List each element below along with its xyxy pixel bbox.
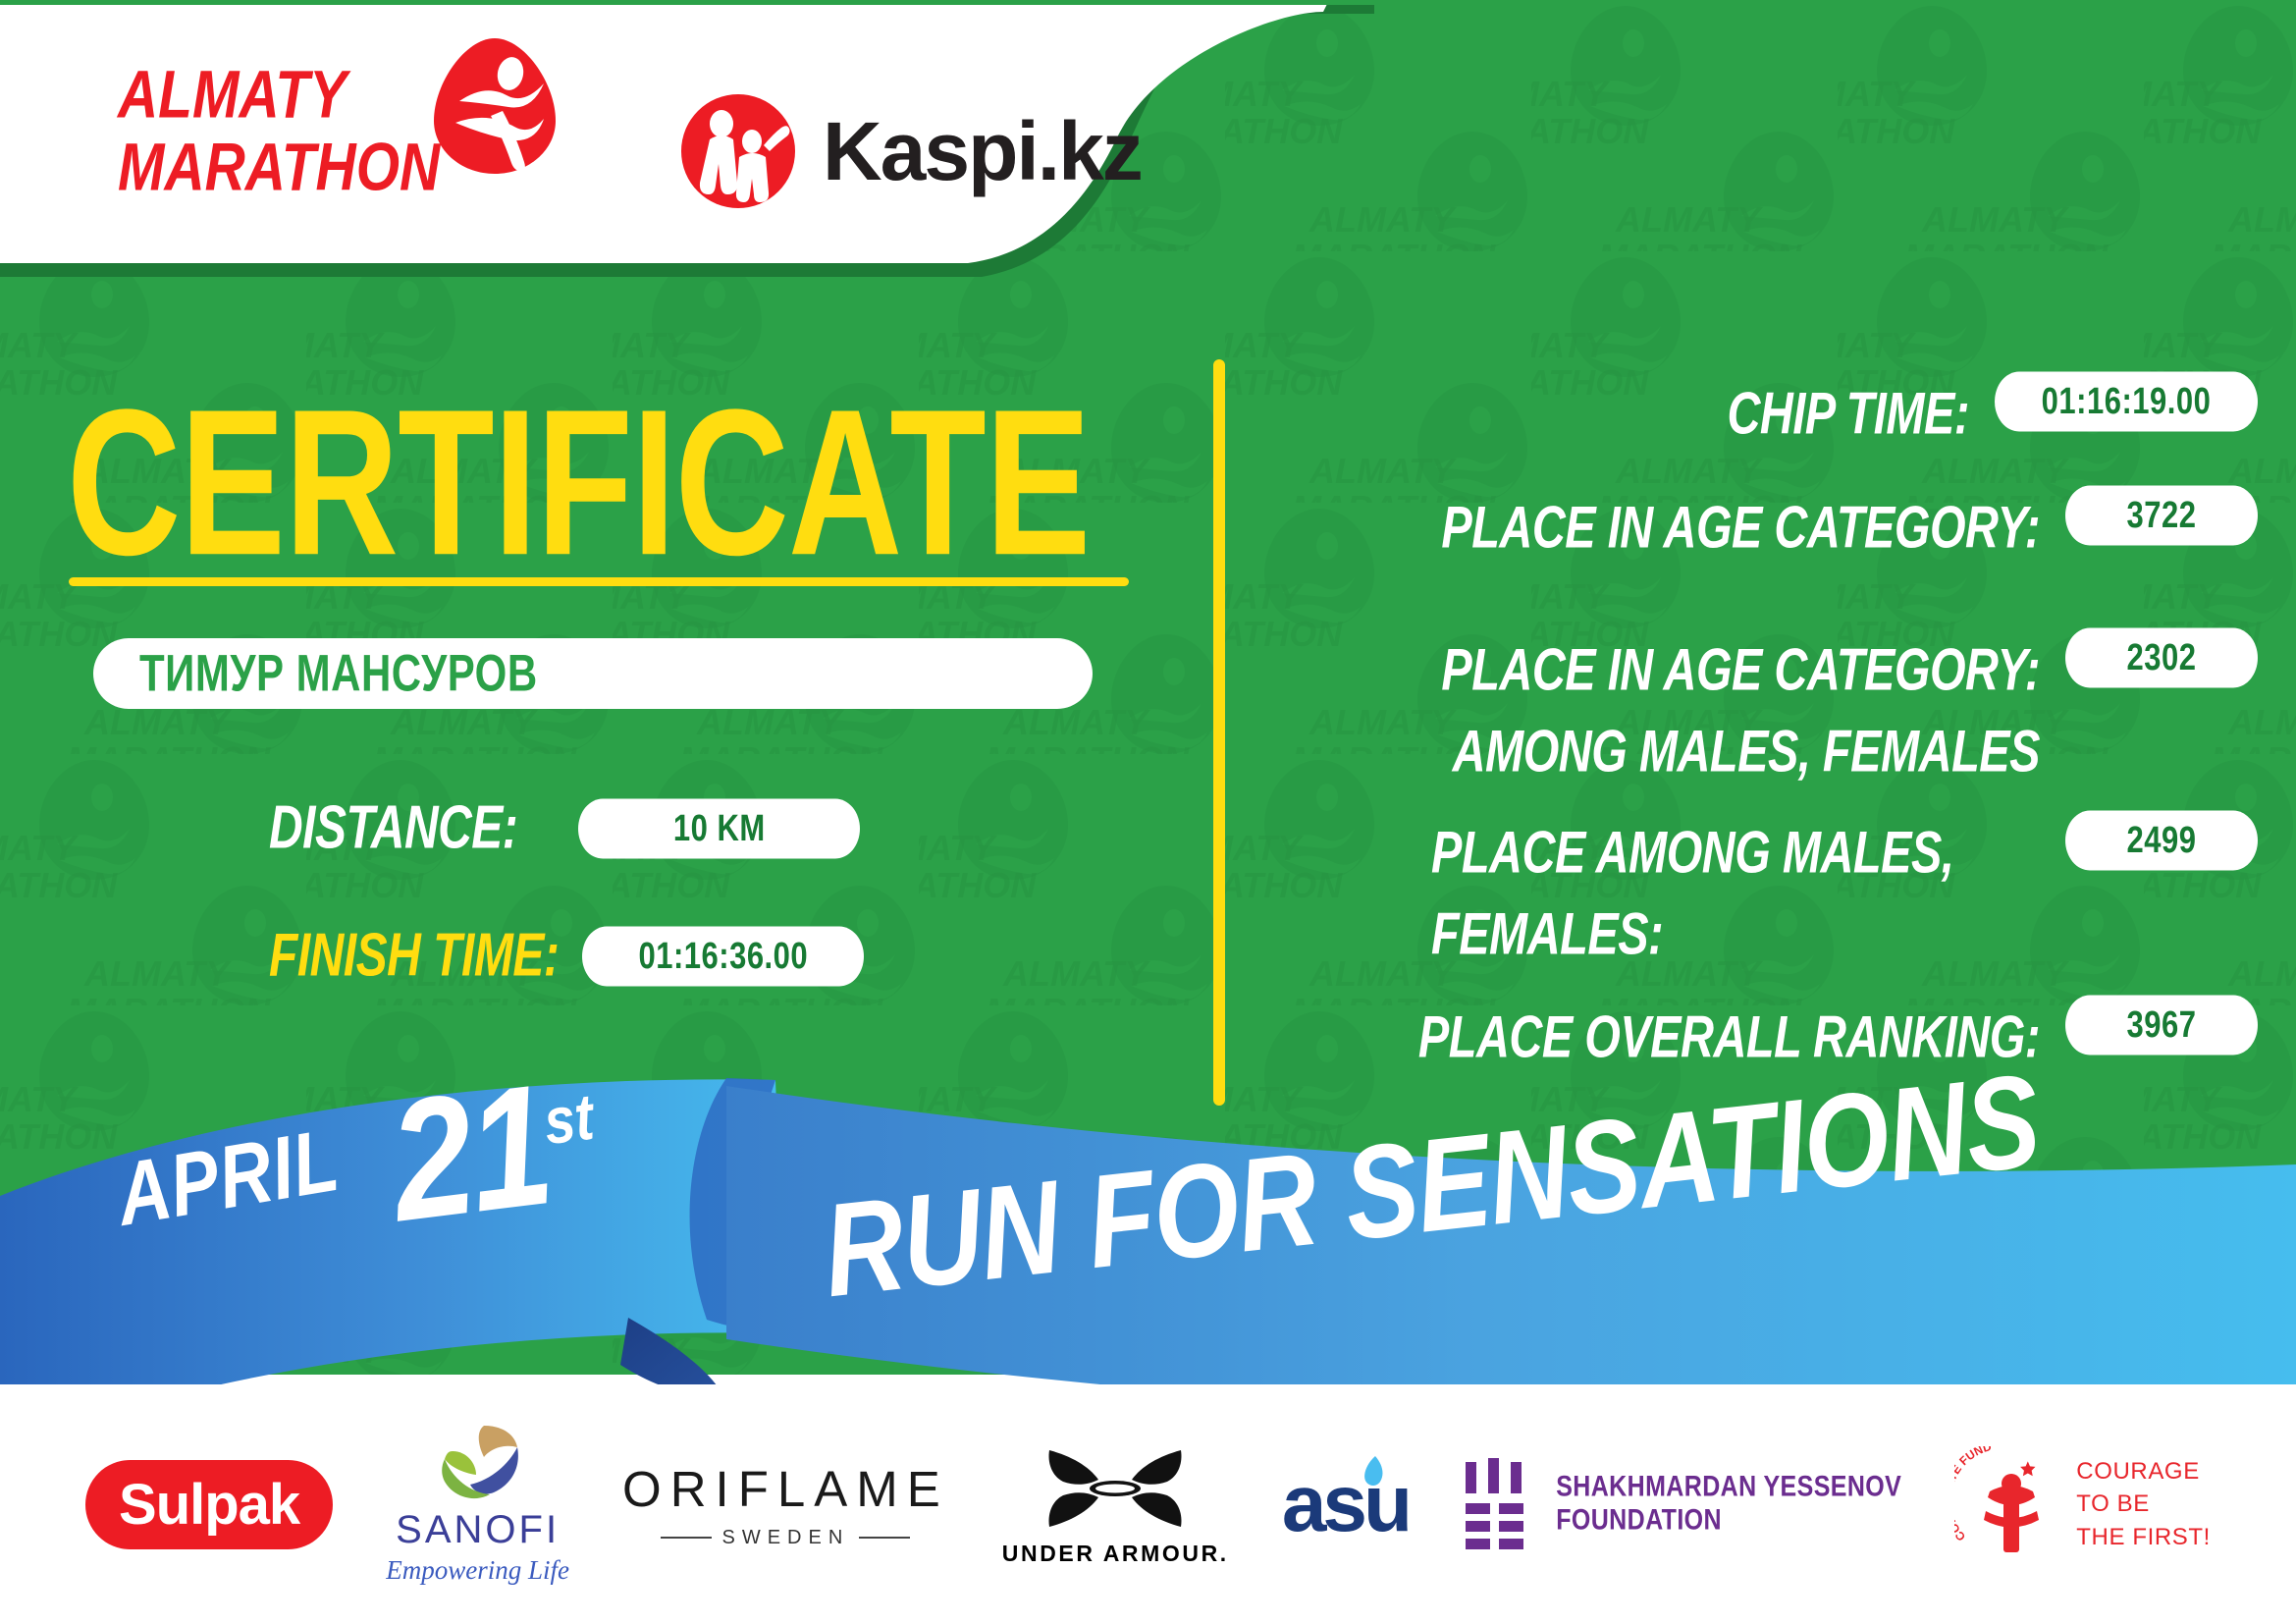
finish-time-value: 01:16:36.00: [638, 935, 808, 978]
place-gender-value: 2499: [2127, 819, 2197, 862]
column-divider: [1213, 359, 1225, 1106]
title-underline-rule: [69, 577, 1129, 586]
yessenov-bars-icon: [1462, 1458, 1534, 1550]
page-title: CERTIFICATE: [67, 379, 1090, 587]
sulpak-wordmark: Sulpak: [85, 1460, 333, 1549]
chip-time-value: 01:16:19.00: [2042, 380, 2212, 423]
place-age-category-gender-value: 2302: [2127, 636, 2197, 679]
courage-line2: TO BE: [2076, 1488, 2211, 1520]
participant-name-field: ТИМУР МАНСУРОВ: [93, 638, 1093, 709]
finish-time-row: FINISH TIME: 01:16:36.00: [269, 929, 864, 983]
place-overall-value-pill: 3967: [2065, 996, 2258, 1056]
place-gender-label: PLACE AMONG MALES, FEMALES:: [1425, 812, 2065, 975]
under-armour-wordmark: UNDER ARMOUR.: [1002, 1541, 1229, 1567]
results-column: CHIP TIME: 01:16:19.00 PLACE IN AGE CATE…: [1276, 373, 2258, 1105]
distance-row: DISTANCE: 10 KM: [269, 801, 860, 855]
oriflame-rule-right: [859, 1537, 910, 1539]
finish-time-label: FINISH TIME:: [269, 921, 559, 992]
chip-time-label: CHIP TIME:: [1276, 373, 1995, 455]
sponsor-courage-fund: CORPORATE FUND COURAGE TO BE THE FIRST!: [1954, 1446, 2211, 1562]
sponsor-bar: Sulpak SANOFI Empowering Life ORIFLAME S…: [0, 1384, 2296, 1624]
distance-value: 10 KM: [673, 807, 766, 850]
oriflame-country: SWEDEN: [721, 1527, 849, 1549]
kaspi-kz-wordmark: Kaspi.kz: [823, 104, 1142, 199]
ribbon-day-number: 21: [381, 1049, 559, 1258]
almaty-marathon-logo-line2: MARATHON: [118, 134, 440, 204]
asu-droplet-icon: [1359, 1454, 1388, 1493]
result-row-place-age-category: PLACE IN AGE CATEGORY: 3722: [1276, 487, 2258, 629]
sanofi-mark-icon: [433, 1424, 523, 1508]
result-row-chip-time: CHIP TIME: 01:16:19.00: [1276, 373, 2258, 487]
place-age-category-value-pill: 3722: [2065, 486, 2258, 546]
participant-name-value: ТИМУР МАНСУРОВ: [139, 644, 538, 703]
courage-fund-figure-icon: CORPORATE FUND: [1954, 1446, 2064, 1562]
place-gender-value-pill: 2499: [2065, 811, 2258, 871]
oriflame-rule-left: [661, 1537, 712, 1539]
courage-fund-wordmark: COURAGE TO BE THE FIRST!: [2076, 1455, 2211, 1552]
place-age-category-gender-label: PLACE IN AGE CATEGORY: AMONG MALES, FEMA…: [1294, 629, 2065, 792]
marathon-runner-droplet-icon: [422, 32, 567, 178]
result-row-place-gender: PLACE AMONG MALES, FEMALES: 2499: [1276, 812, 2258, 997]
sponsor-sanofi: SANOFI Empowering Life: [386, 1424, 569, 1586]
sponsor-oriflame: ORIFLAME SWEDEN: [622, 1460, 949, 1549]
yessenov-line2: FOUNDATION: [1556, 1501, 1901, 1542]
place-age-category-value: 3722: [2127, 494, 2197, 537]
under-armour-logo-icon: [1041, 1442, 1189, 1535]
sponsor-asu: asu: [1282, 1458, 1409, 1550]
kaspi-kz-logo: Kaspi.kz: [677, 90, 1142, 212]
place-age-category-label: PLACE IN AGE CATEGORY:: [1276, 487, 2065, 568]
almaty-marathon-logo-line1: ALMATY: [118, 61, 347, 132]
ribbon-day: 21st: [381, 1041, 608, 1262]
almaty-marathon-logo: ALMATY MARATHON: [118, 61, 567, 192]
sponsor-yessenov-foundation: SHAKHMARDAN YESSENOV FOUNDATION: [1462, 1458, 1901, 1550]
distance-label: DISTANCE:: [269, 793, 517, 864]
sponsor-sulpak: Sulpak: [85, 1460, 333, 1549]
place-age-category-gender-value-pill: 2302: [2065, 628, 2258, 688]
place-overall-value: 3967: [2127, 1003, 2197, 1047]
finish-time-value-pill: 01:16:36.00: [582, 926, 864, 986]
oriflame-wordmark: ORIFLAME: [622, 1460, 949, 1518]
courage-fund-arc-text: CORPORATE FUND: [1954, 1446, 1994, 1543]
courage-line3: THE FIRST!: [2076, 1521, 2211, 1553]
svg-text:CORPORATE FUND: CORPORATE FUND: [1954, 1446, 1994, 1543]
ribbon-day-ordinal: st: [540, 1079, 597, 1158]
distance-value-pill: 10 KM: [578, 798, 860, 858]
yessenov-wordmark: SHAKHMARDAN YESSENOV FOUNDATION: [1556, 1471, 1901, 1538]
sponsor-under-armour: UNDER ARMOUR.: [1002, 1442, 1229, 1567]
result-row-place-age-category-gender: PLACE IN AGE CATEGORY: AMONG MALES, FEMA…: [1276, 629, 2258, 812]
certificate-page: ALMATY MARATHON ALMATY MARATHON: [0, 0, 2296, 1624]
sanofi-wordmark: SANOFI: [396, 1508, 560, 1552]
oriflame-sub: SWEDEN: [622, 1527, 949, 1549]
sanofi-tagline: Empowering Life: [386, 1555, 569, 1586]
chip-time-value-pill: 01:16:19.00: [1995, 372, 2258, 432]
courage-line1: COURAGE: [2076, 1455, 2211, 1488]
kaspi-figures-icon: [677, 90, 799, 212]
asu-wordmark: asu: [1282, 1458, 1409, 1550]
